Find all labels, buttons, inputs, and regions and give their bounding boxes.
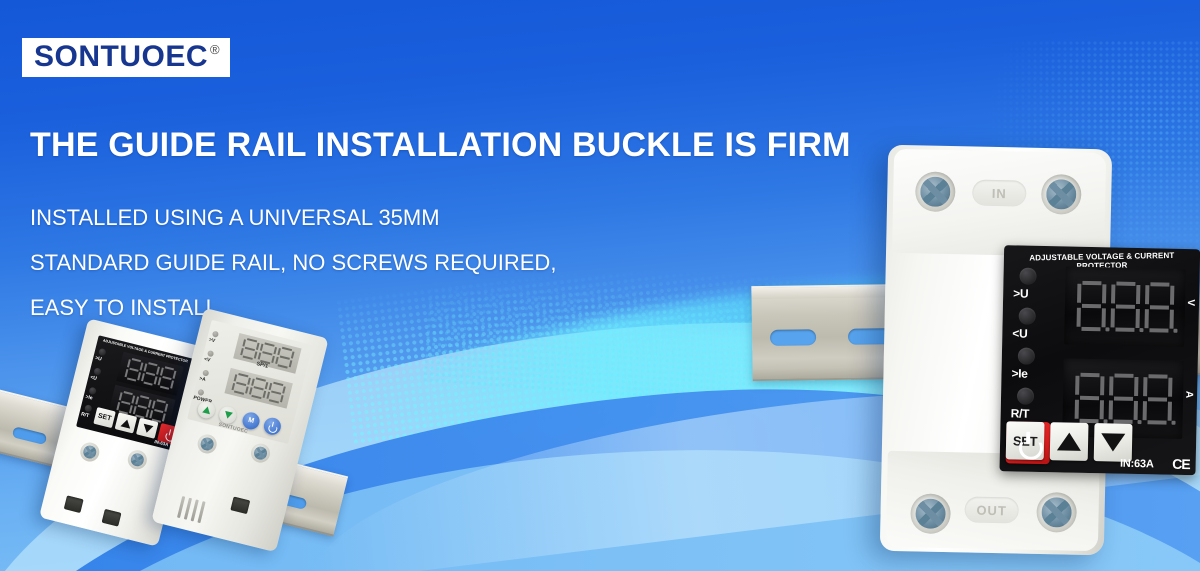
led-dot-icon (1018, 347, 1035, 364)
terminal-screw-top-right[interactable] (1041, 174, 1082, 215)
arrow-up-icon (120, 418, 132, 428)
led-dot-icon (1019, 268, 1036, 285)
led-label: >Ie (85, 394, 93, 402)
seven-segment-digit (1107, 372, 1139, 425)
brand-logo: SONTUOEC ® (22, 38, 230, 77)
down-button[interactable] (136, 418, 159, 439)
rail-slot (12, 426, 48, 445)
led-dot-icon (1019, 308, 1036, 325)
led-indicator-overvoltage: >U (1011, 267, 1064, 308)
up-button[interactable] (115, 412, 138, 433)
mode-label: M (247, 417, 254, 425)
subheadline-line-2: STANDARD GUIDE RAIL, NO SCREWS REQUIRED, (30, 252, 556, 274)
led-indicator-undervoltage: <U (1010, 307, 1063, 348)
led-label: >U (1013, 286, 1028, 300)
seven-segment-digit (1109, 280, 1141, 333)
terminal-label-out: OUT (964, 496, 1019, 523)
device-control-panel: ADJUSTABLE VOLTAGE & CURRENT PROTECTOR >… (999, 245, 1200, 475)
registered-trademark-icon: ® (210, 43, 220, 56)
arrow-down-icon (223, 411, 232, 420)
banner-headline: THE GUIDE RAIL INSTALLATION BUCKLE IS FI… (30, 126, 851, 165)
terminal-screw-top-left[interactable] (915, 171, 956, 212)
indicator-label: >V (208, 337, 216, 344)
brand-logo-text: SONTUOEC (34, 42, 208, 73)
seven-segment-digit (1143, 281, 1175, 334)
seven-segment-digit (1073, 372, 1105, 425)
device-top-terminal-face: IN (892, 149, 1106, 257)
power-button[interactable] (262, 416, 283, 437)
up-button[interactable] (196, 399, 217, 420)
banner-subheadline: INSTALLED USING A UNIVERSAL 35MM STANDAR… (30, 207, 556, 342)
seven-segment-digit (1141, 373, 1173, 426)
rail-slot (770, 329, 816, 346)
arrow-down-icon (1101, 433, 1125, 451)
voltage-current-protector-device: IN OUT ADJUSTABLE VOLTAGE & CURRENT PROT… (880, 145, 1200, 558)
arrow-up-icon (202, 405, 211, 414)
led-label: <U (1012, 326, 1027, 340)
arrow-down-icon (141, 423, 153, 433)
subheadline-line-1: INSTALLED USING A UNIVERSAL 35MM (30, 207, 556, 229)
led-indicator-overcurrent: >Ie (1009, 347, 1062, 388)
terminal-label-in: IN (972, 180, 1027, 207)
terminal-screw-bottom-left[interactable] (910, 493, 951, 534)
voltage-unit-label: V (1185, 299, 1196, 306)
led-label: R/T (80, 411, 89, 419)
led-label: >U (94, 355, 102, 362)
voltage-display (1064, 266, 1186, 346)
device-button-bar: SET (1006, 421, 1191, 469)
current-unit-label: A (1183, 391, 1194, 398)
led-label: R/T (1011, 406, 1030, 420)
indicator-label: >A (198, 376, 206, 383)
down-button[interactable] (1094, 423, 1133, 462)
up-button[interactable] (1050, 422, 1089, 461)
subheadline-line-3: EASY TO INSTALL (30, 297, 556, 319)
led-indicator-group: >U <U >Ie R/T (1008, 267, 1063, 428)
seven-segment-digit (1075, 280, 1107, 333)
promotional-banner: SONTUOEC ® THE GUIDE RAIL INSTALLATION B… (0, 0, 1200, 571)
led-label: <U (90, 375, 98, 382)
led-label: >Ie (1011, 366, 1027, 380)
power-icon (267, 421, 278, 432)
lower-display (224, 368, 292, 409)
device-rating-label: IN:63A (1120, 458, 1154, 471)
ce-mark-icon: CE (1172, 456, 1190, 472)
seven-segment-digit (157, 365, 177, 390)
seven-segment-digit (275, 346, 295, 369)
seven-segment-digit (266, 381, 286, 404)
led-dot-icon (1017, 387, 1034, 404)
terminal-screw-bottom-right[interactable] (1036, 492, 1077, 533)
indicator-label: <V (203, 356, 211, 363)
arrow-up-icon (1057, 432, 1081, 450)
power-icon (1017, 432, 1039, 454)
set-button[interactable]: SET (93, 407, 116, 428)
